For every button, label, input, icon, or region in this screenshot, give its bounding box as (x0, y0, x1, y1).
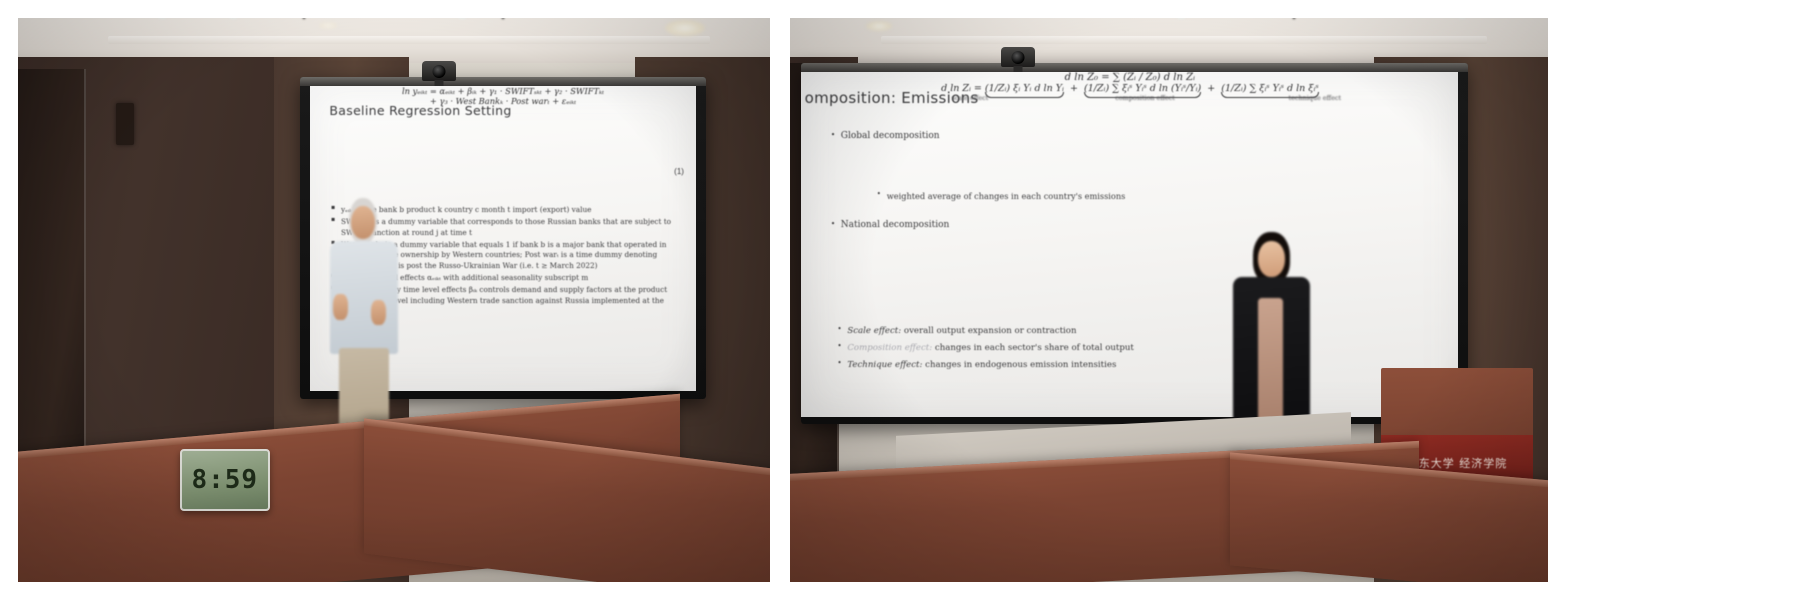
brace-label-composition: composition effect (1115, 94, 1175, 102)
equation-term-technique: (1/Zᵢ) ∑ ξᵢˢ Yᵢˢ d ln ξᵢˢ (1221, 83, 1318, 94)
slide-equation-global: d ln Z₀ = ∑ (Zᵢ / Z₀) d ln Zᵢ (801, 72, 1458, 83)
slide-bullet-scale-effect: Scale effect: overall output expansion o… (847, 324, 1432, 339)
equation-brace-labels: scale effect composition effect techniqu… (801, 94, 1458, 102)
presenter-hand (333, 294, 347, 319)
overhead-camera-icon (1001, 47, 1035, 67)
screen-bezel (801, 63, 1468, 72)
photo-right: omposition: Emissions Global decompositi… (790, 18, 1548, 582)
equation-term-composition: (1/Zᵢ) ∑ ξᵢˢ Yᵢˢ d ln (Yᵢˢ/Yᵢ) (1084, 83, 1201, 94)
equation-lhs: d ln Zᵢ = (941, 83, 982, 94)
photo-left: Baseline Regression Setting ln yₑᵢₖₜ = α… (18, 18, 770, 582)
brace-label-technique: technique effect (1289, 94, 1341, 102)
presenter-dress (1258, 298, 1283, 424)
desc-scale-effect: overall output expansion or contraction (904, 326, 1077, 336)
wall-plaque-icon (116, 103, 134, 145)
screenshot-root: Baseline Regression Setting ln yₑᵢₖₜ = α… (0, 0, 1800, 600)
slide-equation-line1: ln yₑᵢₖₜ = αₑᵢₖₜ + βᵢₖ + γ₁ · SWIFTₛₖₜ +… (310, 86, 696, 96)
ceiling-light (866, 21, 892, 31)
projection-screen: omposition: Emissions Global decompositi… (801, 63, 1468, 424)
slide-sub-bullet: weighted average of changes in each coun… (887, 191, 1426, 201)
slide-bullet: National decomposition (841, 220, 1432, 230)
term-composition-effect: Composition effect: (847, 343, 932, 353)
screen-bezel (300, 77, 706, 86)
term-technique-effect: Technique effect: (847, 360, 922, 370)
seminar-room-left: Baseline Regression Setting ln yₑᵢₖₜ = α… (18, 18, 770, 582)
overhead-camera-icon (422, 61, 456, 81)
slide-equation-line2: + γ₃ · West Bankₖ · Post warₜ + εₑᵢₖₜ (310, 96, 696, 106)
slide-equation-national: d ln Zᵢ = (1/Zᵢ) ξᵢ Yᵢ d ln Yᵢ + (1/Zᵢ) … (801, 83, 1458, 94)
slide-equation-number: (1) (674, 167, 684, 176)
brace-label-scale: scale effect (952, 94, 989, 102)
slide-bullet: Global decomposition (841, 131, 1432, 141)
ceiling-light (319, 22, 337, 29)
equation-term-scale: (1/Zᵢ) ξᵢ Yᵢ d ln Yᵢ (985, 83, 1064, 94)
desc-technique-effect: changes in endogenous emission intensiti… (925, 360, 1116, 370)
slide-bullet-composition-effect: Composition effect: changes in each sect… (847, 341, 1432, 356)
countdown-timer-value: 8:59 (191, 465, 258, 495)
presenter-face (351, 206, 374, 240)
desc-composition-effect: changes in each sector's share of total … (935, 343, 1134, 353)
slide-right: omposition: Emissions Global decompositi… (801, 72, 1458, 417)
ceiling-light (665, 20, 705, 36)
term-scale-effect: Scale effect: (847, 326, 901, 336)
countdown-timer: 8:59 (180, 449, 270, 511)
slide-bullet-technique-effect: Technique effect: changes in endogenous … (847, 358, 1432, 373)
presenter-hand (371, 300, 385, 325)
presenter-face (1258, 241, 1285, 277)
seminar-room-right: omposition: Emissions Global decompositi… (790, 18, 1548, 582)
